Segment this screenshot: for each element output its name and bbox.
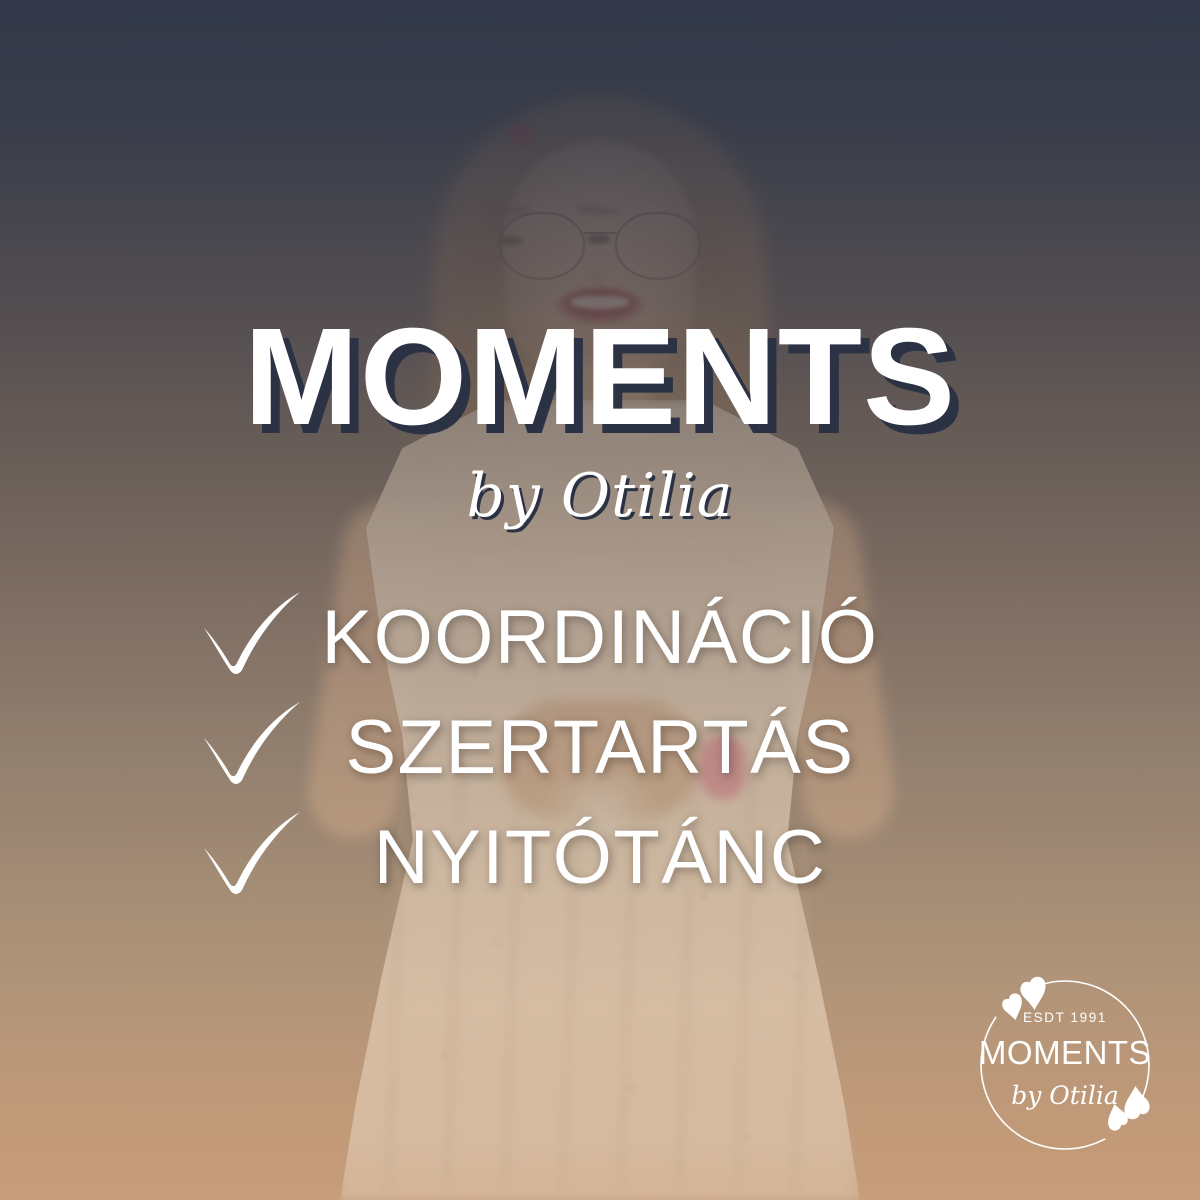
logo-name: MOMENTS: [979, 1034, 1151, 1071]
service-label: SZERTARTÁS: [0, 710, 1200, 786]
brand-subtitle: by Otilia: [0, 466, 1200, 526]
poster-canvas: MOMENTS by Otilia KOORDINÁCIÓ SZERTARTÁS: [0, 0, 1200, 1200]
list-item: NYITÓTÁNC: [0, 816, 1200, 926]
brand-title: MOMENTS: [0, 308, 1200, 446]
list-item: SZERTARTÁS: [0, 706, 1200, 816]
logo-badge: ESDT 1991 MOMENTS by Otilia: [962, 962, 1168, 1168]
logo-established: ESDT 1991: [1023, 1010, 1107, 1025]
service-label: NYITÓTÁNC: [0, 820, 1200, 896]
service-label: KOORDINÁCIÓ: [0, 600, 1200, 676]
logo-byline: by Otilia: [1011, 1081, 1119, 1110]
service-list: KOORDINÁCIÓ SZERTARTÁS NYITÓTÁNC: [0, 596, 1200, 926]
list-item: KOORDINÁCIÓ: [0, 596, 1200, 706]
